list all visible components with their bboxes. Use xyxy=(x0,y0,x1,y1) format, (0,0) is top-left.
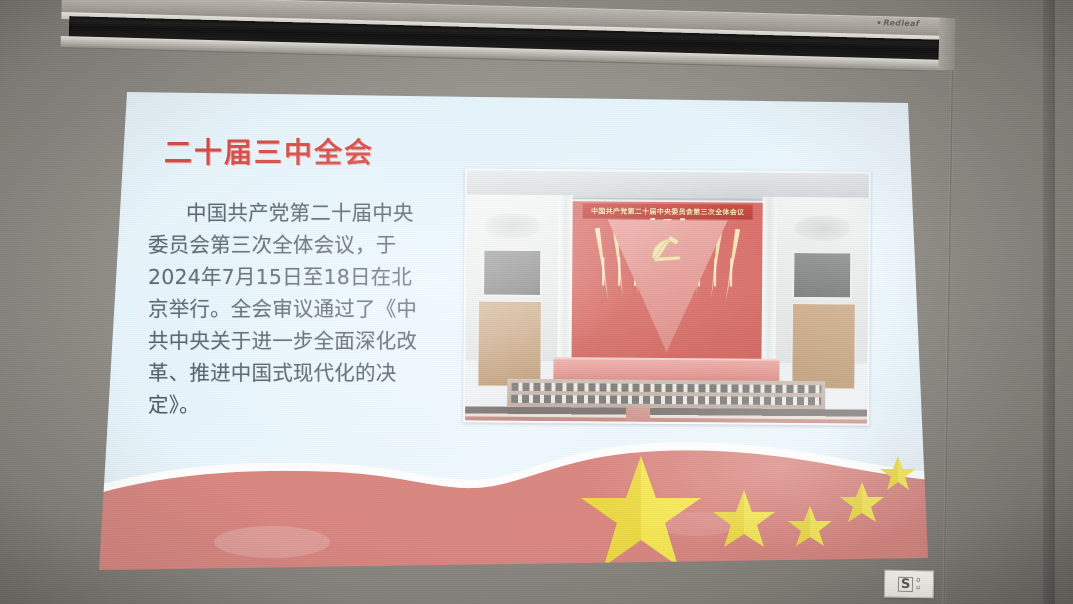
wall-vignette xyxy=(0,0,1073,604)
sticker-code-line2: u xyxy=(916,584,920,591)
screenshot-root: Redleaf 二十届三中全会 中国共产党第二十届中央委员会第三次全体会议，于2… xyxy=(0,0,1073,604)
wall-label-sticker: S 0 u xyxy=(884,570,934,599)
brand-logo: Redleaf xyxy=(877,18,919,28)
wall-right-edge-shadow xyxy=(1043,0,1055,604)
sticker-codes: 0 u xyxy=(916,577,920,592)
sticker-glyph: S xyxy=(898,576,914,591)
housing-end-cap xyxy=(938,18,955,70)
brand-logo-text: Redleaf xyxy=(883,18,919,28)
brand-dot-icon xyxy=(877,21,880,24)
sticker-code-line1: 0 xyxy=(916,577,920,584)
